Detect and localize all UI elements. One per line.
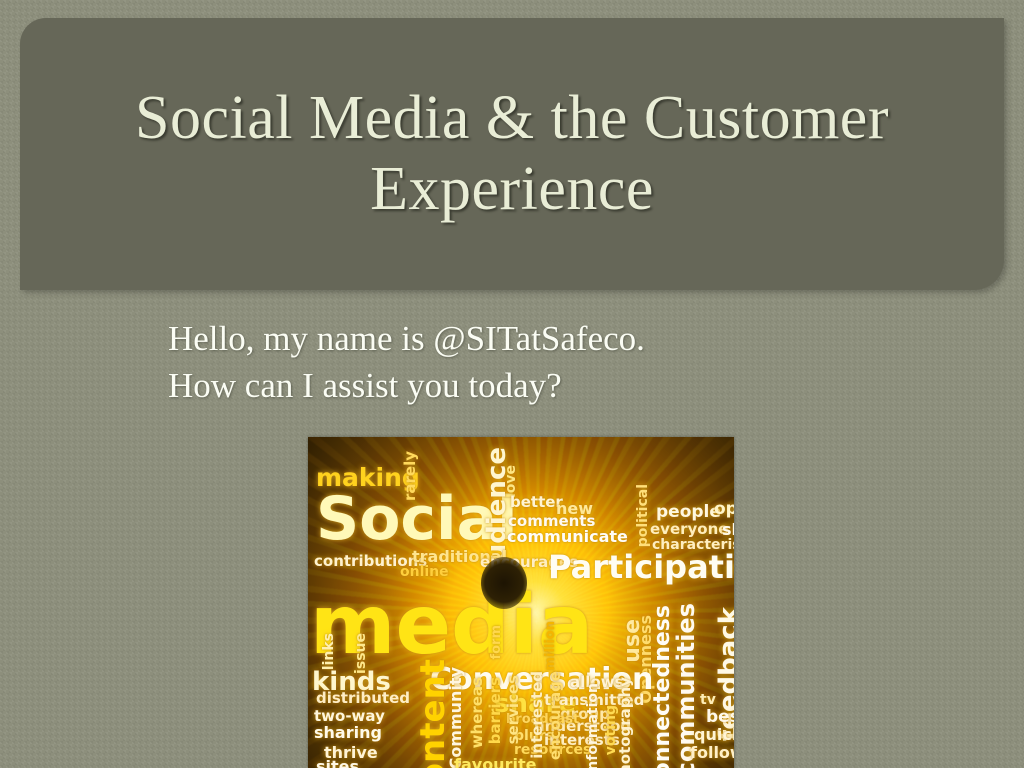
wordcloud-word: favourite <box>454 757 536 768</box>
wordcloud-word: services <box>506 675 521 744</box>
wordcloud-word: interested <box>530 671 545 759</box>
wordcloud-word: distributed <box>316 691 410 706</box>
presentation-slide: Social Media & the Customer Experience H… <box>0 0 1024 768</box>
wordcloud-word: open <box>714 501 734 518</box>
body-line-1: Hello, my name is @SITatSafeco. <box>168 316 868 363</box>
page-title: Social Media & the Customer Experience <box>20 83 1004 224</box>
wordcloud-word: political <box>636 484 650 547</box>
title-panel: Social Media & the Customer Experience <box>20 18 1004 290</box>
wordcloud-word: photography <box>618 677 633 768</box>
wordcloud-word: information <box>586 683 600 768</box>
wordcloud-word: Community <box>448 667 464 768</box>
dark-hotspot <box>481 557 527 609</box>
wordcloud-word: sites <box>316 759 359 768</box>
wordcloud-word: following <box>690 745 734 761</box>
wordcloud-word: people <box>656 504 721 521</box>
wordcloud-word: sharing <box>314 725 382 741</box>
body-line-2: How can I assist you today? <box>168 363 868 410</box>
body-text-block: Hello, my name is @SITatSafeco. How can … <box>168 316 868 409</box>
wordcloud-word: everyone <box>650 522 728 537</box>
wordcloud-word: links <box>322 633 336 670</box>
social-media-wordcloud-image: makingrarelySocialloveaudiencebetternewc… <box>308 437 734 768</box>
wordcloud-word: quickly <box>694 727 734 743</box>
wordcloud-word: encourage <box>548 671 563 760</box>
wordcloud-word: barriers <box>488 677 503 744</box>
wordcloud-word: whereas <box>470 677 485 748</box>
wordcloud-word: two-way <box>314 709 385 724</box>
wordcloud-word: online <box>400 565 449 579</box>
wordcloud-word: best <box>706 709 734 726</box>
title-line-1: Social Media & the Customer <box>50 83 974 154</box>
wordcloud-word: communicate <box>507 529 628 545</box>
wordcloud-word: show <box>722 522 734 538</box>
wordcloud-word-layer: makingrarelySocialloveaudiencebetternewc… <box>308 437 734 768</box>
wordcloud-word: form <box>490 625 503 660</box>
wordcloud-word: better <box>510 495 563 510</box>
wordcloud-word: Connectedness <box>652 605 674 768</box>
wordcloud-word: content <box>416 659 450 768</box>
title-line-2: Experience <box>50 154 974 225</box>
wordcloud-word: tv <box>700 693 716 707</box>
